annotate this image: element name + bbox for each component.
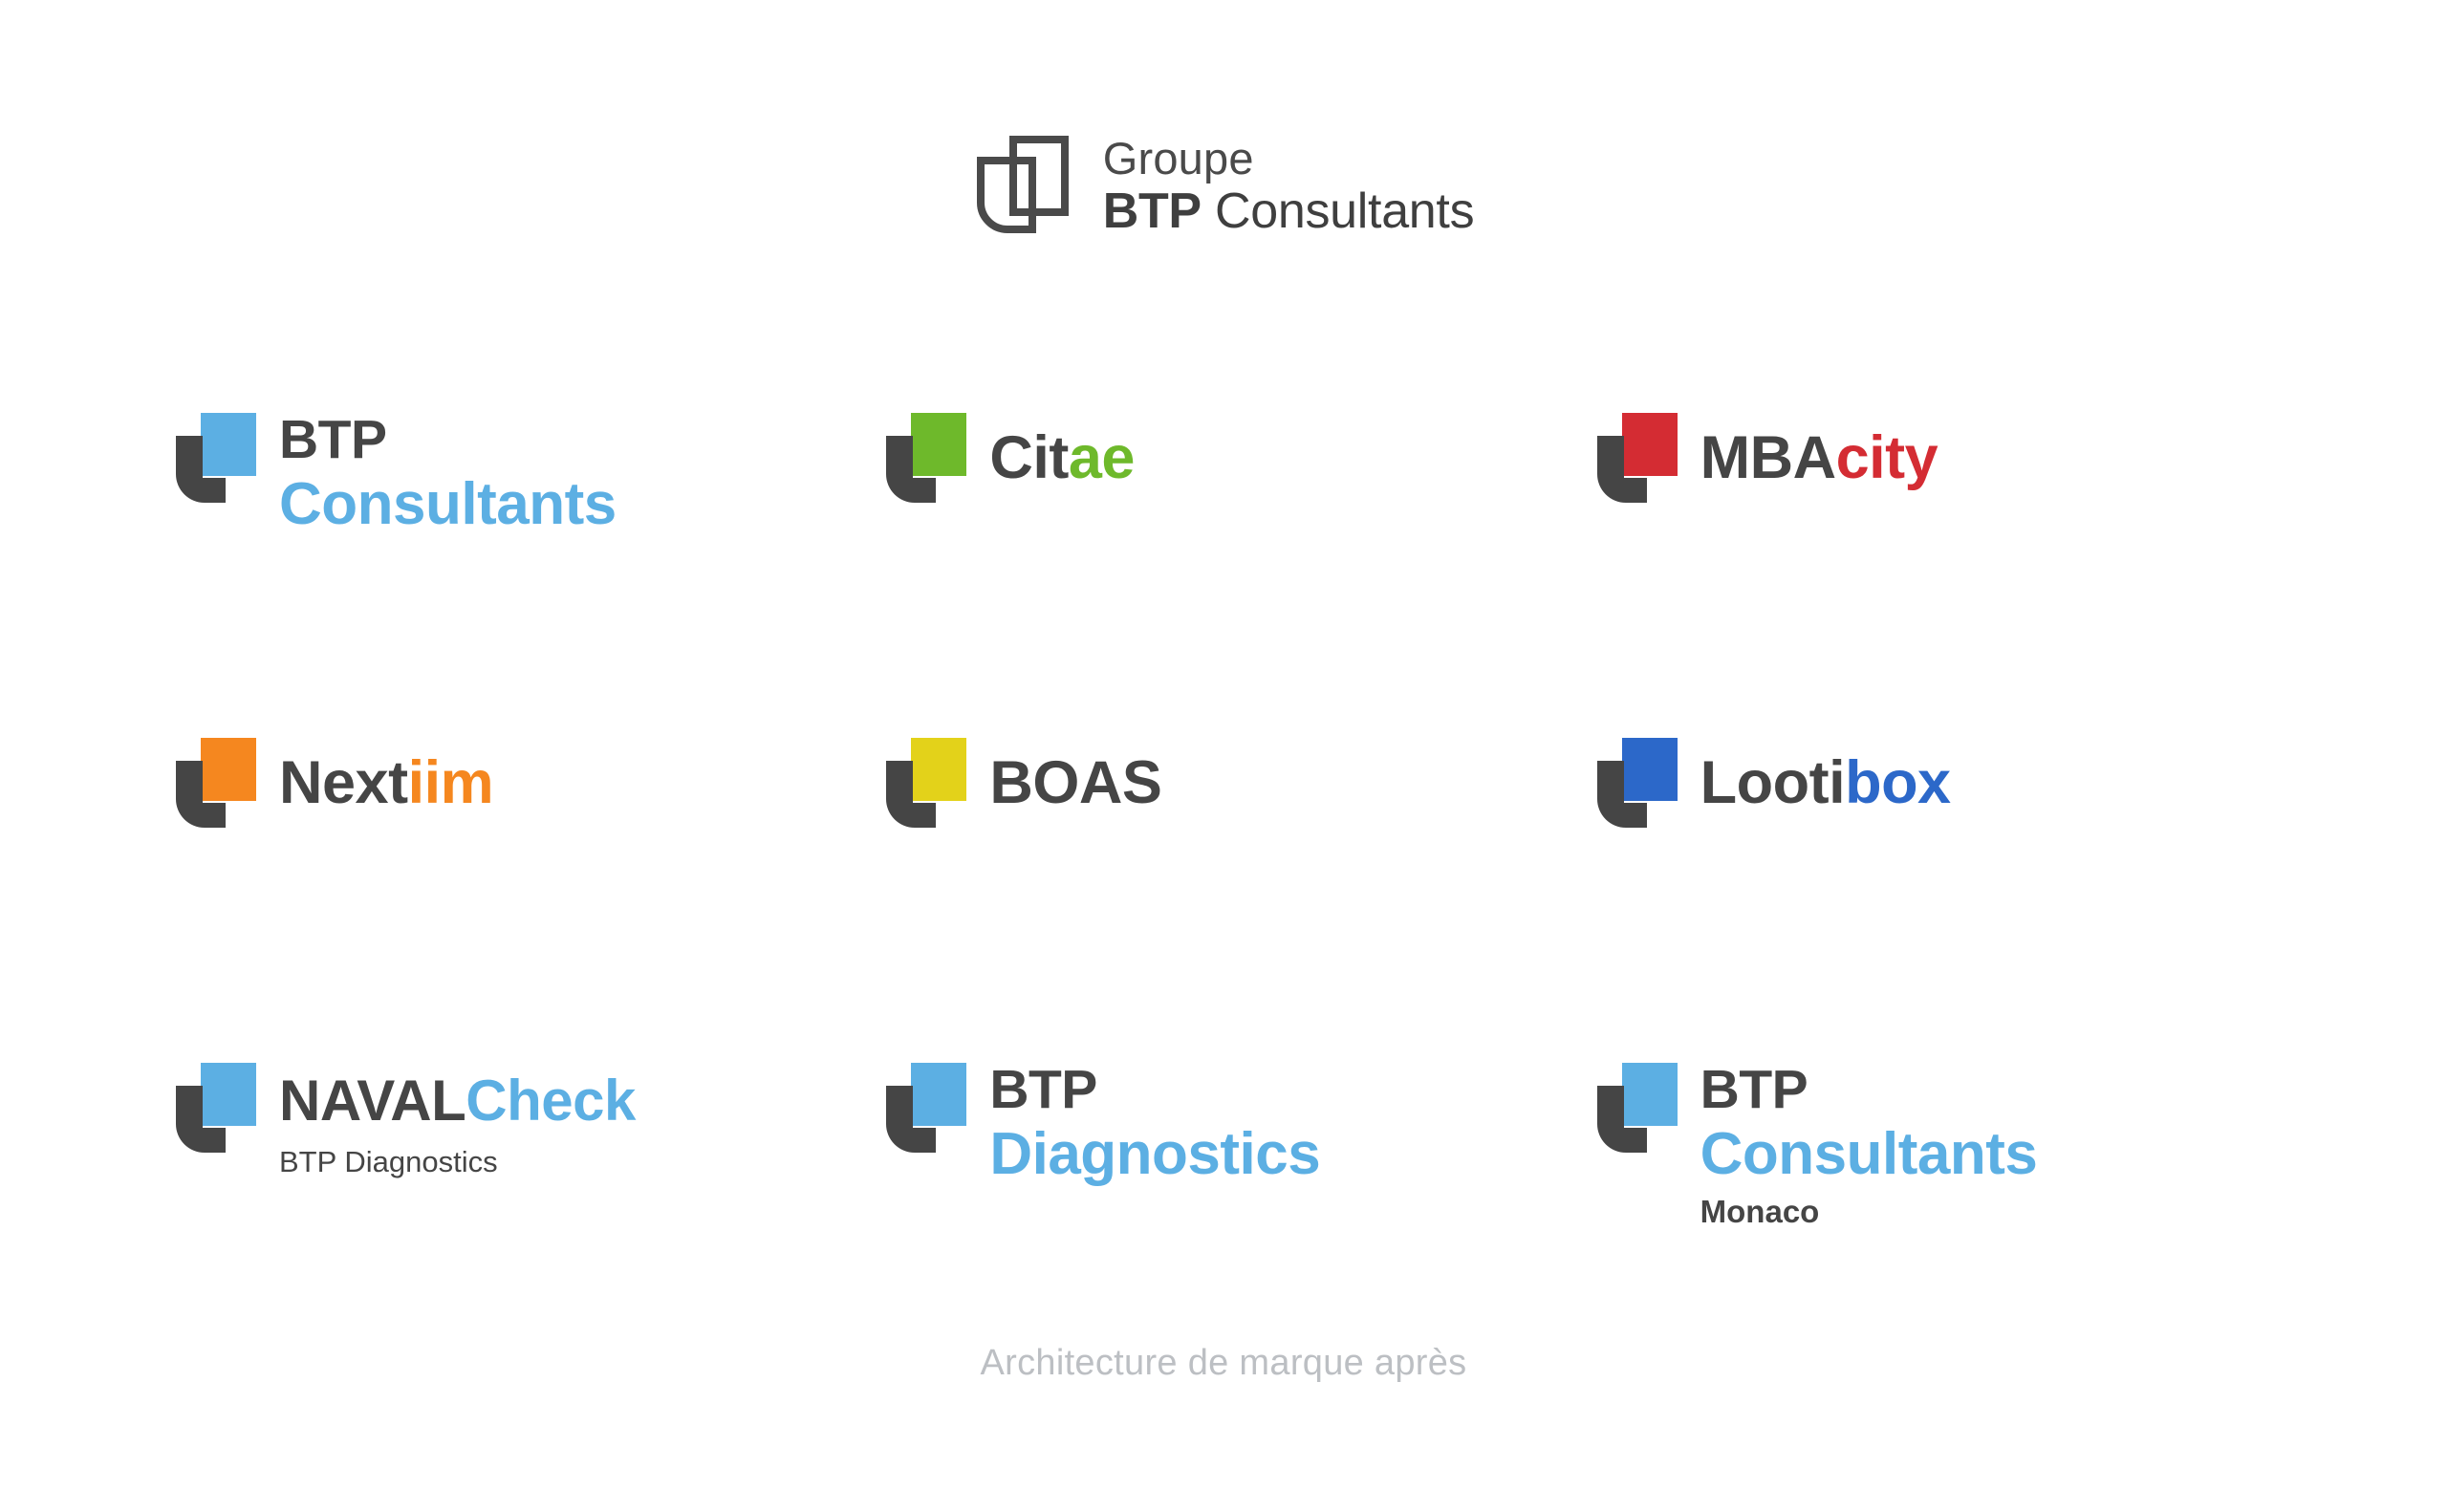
brand-part-2: ae: [1069, 424, 1135, 491]
mbacity-mark-icon: [1593, 411, 1681, 505]
group-line-groupe: Groupe: [1103, 136, 1475, 181]
brand-line-1: BTP: [989, 1063, 1320, 1117]
brand-cell-boas: BOAS: [882, 736, 1592, 1061]
group-header: Groupe BTP Consultants: [0, 134, 2447, 237]
brand-lockup: MBAcity: [1593, 411, 1938, 505]
brand-line-1: MBAcity: [1700, 428, 1938, 488]
navalcheck-mark-icon: [172, 1061, 260, 1155]
group-consultants-regular: Consultants: [1202, 184, 1474, 239]
brand-lockup: Lootibox: [1593, 736, 1951, 830]
group-btp-bold: BTP: [1103, 184, 1202, 239]
brand-lockup: NAVALCheck BTP Diagnostics: [172, 1061, 636, 1177]
brand-wordmark: Citae: [989, 411, 1135, 488]
brand-line-3: Monaco: [1700, 1196, 2038, 1227]
brand-lockup: BTP Diagnostics: [882, 1061, 1320, 1184]
group-wordmark: Groupe BTP Consultants: [1103, 136, 1475, 236]
brand-line-2: Consultants: [1700, 1125, 2038, 1184]
diagram-caption: Architecture de marque après: [0, 1343, 2447, 1384]
brand-wordmark: BTP Diagnostics: [989, 1061, 1320, 1184]
brand-part-1: MBA: [1700, 424, 1836, 491]
boas-mark-icon: [882, 736, 970, 830]
brand-part-1: NAVAL: [279, 1069, 466, 1133]
brand-cell-lootibox: Lootibox: [1593, 736, 2304, 1061]
groupe-outline-mark-icon: [973, 134, 1071, 237]
brand-part-1: Looti: [1700, 749, 1845, 816]
brand-lockup: BOAS: [882, 736, 1161, 830]
brand-part-2: iim: [408, 749, 494, 816]
brand-part-1: BOAS: [989, 749, 1161, 816]
brand-wordmark: Lootibox: [1700, 736, 1951, 813]
nextiim-mark-icon: [172, 736, 260, 830]
brand-cell-citae: Citae: [882, 411, 1592, 736]
brand-part-2: box: [1845, 749, 1951, 816]
btp-consultants-mark-icon: [172, 411, 260, 505]
group-line-btp-consultants: BTP Consultants: [1103, 186, 1475, 236]
brand-cell-mbacity: MBAcity: [1593, 411, 2304, 736]
brand-lockup: Nextiim: [172, 736, 493, 830]
brand-part-2: city: [1836, 424, 1938, 491]
brand-lockup: Citae: [882, 411, 1135, 505]
brand-line-1: NAVALCheck: [279, 1072, 636, 1130]
brand-wordmark: BOAS: [989, 736, 1161, 813]
brand-line-1: BTP: [1700, 1063, 2038, 1117]
brand-cell-btp-diagnostics: BTP Diagnostics: [882, 1061, 1592, 1386]
btp-consultants-monaco-mark-icon: [1593, 1061, 1681, 1155]
groupe-btp-consultants-lockup: Groupe BTP Consultants: [973, 134, 1475, 237]
brand-line-2: Consultants: [279, 475, 617, 534]
lootibox-mark-icon: [1593, 736, 1681, 830]
brand-grid: BTP Consultants Citae: [172, 411, 2304, 1386]
brand-cell-navalcheck: NAVALCheck BTP Diagnostics: [172, 1061, 882, 1386]
brand-part-1: Cit: [989, 424, 1068, 491]
brand-wordmark: NAVALCheck BTP Diagnostics: [279, 1061, 636, 1177]
brand-line-1: Citae: [989, 428, 1135, 488]
brand-lockup: BTP Consultants: [172, 411, 617, 534]
brand-line-1: Nextiim: [279, 753, 493, 813]
brand-cell-btp-consultants-monaco: BTP Consultants Monaco: [1593, 1061, 2304, 1386]
brand-wordmark: BTP Consultants Monaco: [1700, 1061, 2038, 1227]
brand-cell-btp-consultants: BTP Consultants: [172, 411, 882, 736]
brand-lockup: BTP Consultants Monaco: [1593, 1061, 2038, 1227]
brand-cell-nextiim: Nextiim: [172, 736, 882, 1061]
brand-wordmark: BTP Consultants: [279, 411, 617, 534]
btp-diagnostics-mark-icon: [882, 1061, 970, 1155]
brand-wordmark: MBAcity: [1700, 411, 1938, 488]
brand-line-1: BTP: [279, 413, 617, 467]
brand-wordmark: Nextiim: [279, 736, 493, 813]
brand-part-2: Check: [466, 1069, 636, 1133]
brand-line-1: BOAS: [989, 753, 1161, 813]
citae-mark-icon: [882, 411, 970, 505]
brand-line-2: Diagnostics: [989, 1125, 1320, 1184]
brand-tagline: BTP Diagnostics: [279, 1147, 636, 1177]
brand-part-1: Next: [279, 749, 408, 816]
brand-line-1: Lootibox: [1700, 753, 1951, 813]
